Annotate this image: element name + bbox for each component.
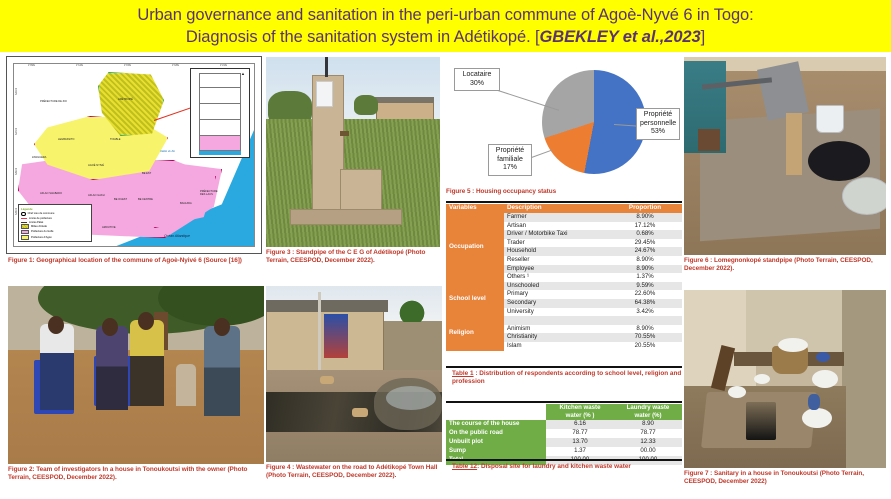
figure-7-caption: Figure 7 : Sanitary in a house in Tonouk… (684, 470, 884, 485)
legend-swatch-icon (21, 230, 29, 235)
table-cell-description: Others ¹ (504, 273, 608, 282)
pie-label-familiale-name-l1: Propriété (496, 147, 524, 154)
table-cell-proportion: 22.60% (608, 290, 682, 299)
table-1-group-occupation: Occupation (446, 213, 504, 282)
map-commune-label-amoutive: AMOUTIVE (102, 226, 116, 229)
table-2-col-laundry-l2: water (%) (634, 412, 661, 419)
map-prefecture-label-zio: PRÉFECTURE DE ZIO (40, 100, 67, 103)
photo-debris (320, 376, 334, 384)
table-2-col-kitchen-l1: Kitchen waste (560, 404, 601, 411)
photo-latrine-door-frame (842, 290, 886, 468)
table-cell-label: Sump (446, 447, 546, 456)
table-2-col-laundry-l1: Laundry waste (627, 404, 670, 411)
map-legend-item-label: Limite d'Etat (29, 221, 43, 224)
legend-swatch-icon (21, 224, 29, 229)
table-2-col-laundry: Laundry waste water (%) (614, 404, 682, 420)
poster-title-line-2: Diagnosis of the sanitation system in Ad… (186, 26, 705, 48)
table-row-spacer: Religion (446, 316, 682, 325)
map-y-tick: 6°06'N (14, 208, 17, 215)
table-cell-laundry: 78.77 (614, 429, 682, 438)
photo-person-seated (130, 320, 164, 406)
photo-litter (778, 338, 808, 352)
map-commune-label-legbassito: LEGBASSITO (58, 138, 74, 141)
table-1-top-rule (446, 201, 682, 203)
pie-label-locataire-name: Locataire (463, 71, 492, 78)
table-cell-description: Driver / Motorbike Taxi (504, 230, 608, 239)
map-y-tick: 6°12'N (14, 128, 17, 135)
photo-person-head (102, 318, 118, 336)
legend-swatch-icon (21, 222, 27, 223)
table-cell-description: Employee (504, 265, 608, 274)
map-legend-item: Préfecture du Golfe (21, 230, 89, 235)
map-x-tick: 1°18'E (172, 64, 179, 67)
table-1-respondent-distribution: Variables Description Proportion Occupat… (446, 204, 682, 351)
table-cell-description: Christianity (504, 333, 608, 342)
table-cell-proportion: 17.12% (608, 222, 682, 231)
poster-canvas: Urban governance and sanitation in the p… (0, 0, 891, 499)
map-commune-label-be-centre: BE CENTRE (138, 198, 153, 201)
table-cell-proportion: 24.67% (608, 247, 682, 256)
map-legend-item-label: Préfecture d'Agoé (31, 236, 52, 239)
table-cell-laundry: 00.00 (614, 447, 682, 456)
map-x-tick: 1°15'E (124, 64, 131, 67)
map-commune-label-be-ouest: BE OUEST (114, 198, 127, 201)
photo-grey-basin (842, 177, 886, 215)
figure-2-panel: Figure 2: Team of investigators In a hou… (8, 286, 266, 496)
photo-litter (802, 408, 832, 428)
map-legend-item: Chef Lieu de commune (21, 212, 89, 217)
figure-1-map-panel: Océan Atlantique ADÉTIKOPÉ LEGBASSITO TO… (6, 56, 262, 271)
table-cell-description: Trader (504, 239, 608, 248)
table-1-body: Occupation Farmer 8.90% Artisan 17.12% D… (446, 213, 682, 351)
photo-white-bucket (816, 105, 844, 133)
photo-litter-blue (816, 352, 830, 362)
pie-label-familiale-value: 17% (503, 164, 517, 171)
table-1-col-proportion: Proportion (608, 204, 682, 213)
table-row: Sump 1.37 00.00 (446, 447, 682, 456)
figure-7-panel: Figure 7 : Sanitary in a house in Tonouk… (684, 290, 886, 496)
table-cell-proportion: 29.45% (608, 239, 682, 248)
table-cell-kitchen: 1.37 (546, 447, 614, 456)
map-legend-item: Limite de préfecture (21, 217, 89, 220)
figure-4-caption: Figure 4 : Wastewater on the road to Adé… (266, 464, 440, 479)
map-commune-label-togble: TOGBLE (110, 138, 120, 141)
figure-5-caption: Figure 5 : Housing occupancy status (446, 188, 676, 196)
pie-label-personnelle-name-l2: personnelle (640, 120, 676, 127)
map-commune-label-be-est: BE EST (142, 172, 151, 175)
housing-occupancy-pie-chart (542, 70, 646, 174)
table-cell-description: Unschooled (504, 282, 608, 291)
inset-north-arrow-icon: ▲ (241, 71, 245, 76)
map-legend-item-label: Chef Lieu de commune (28, 212, 55, 215)
photo-standpipe-tap (340, 131, 349, 136)
table-2-caption-text: : Disposal site for laundry and kitchen … (477, 463, 631, 470)
pie-label-familiale-name-l2: familiale (497, 156, 523, 163)
table-cell-kitchen: 13.70 (546, 438, 614, 447)
table-cell-laundry: 8.90 (614, 420, 682, 429)
table-1-caption-text: : Distribution of respondents according … (452, 370, 681, 385)
map-x-tick: 1°12'E (76, 64, 83, 67)
photo-wastewater-sheen (386, 386, 436, 410)
photo-person-seated (40, 324, 74, 410)
inset-region-maritime (199, 135, 241, 151)
table-cell-proportion: 8.90% (608, 256, 682, 265)
table-1-col-description: Description (504, 204, 608, 213)
table-2-col-kitchen: Kitchen waste water (% ) (546, 404, 614, 420)
photo-litter (754, 374, 770, 384)
table-cell-label: The course of the house (446, 420, 546, 429)
figure-4-panel: Figure 4 : Wastewater on the road to Adé… (266, 286, 442, 496)
table-2-waste-water-disposal: Kitchen waste water (% ) Laundry waste w… (446, 404, 682, 465)
photo-palm-tree (390, 292, 434, 322)
map-ocean-label: Océan Atlantique (164, 234, 190, 238)
figure-3-caption: Figure 3 : Standpipe of the C E G of Adé… (266, 249, 438, 264)
photo-person-head (138, 312, 154, 330)
table-2-top-rule (446, 401, 682, 403)
pie-label-propriete-personnelle: Propriété personnelle 53% (636, 108, 680, 140)
map-valley-label-zio: Vallée du Zio (160, 150, 175, 153)
map-legend-item-label: Préfecture du Golfe (31, 230, 54, 233)
table-cell-proportion: 8.90% (608, 265, 682, 274)
map-x-tick: 1°21'E (220, 64, 227, 67)
map-inset-togo: ▲ (190, 68, 250, 158)
table-2-col-kitchen-l2: water (% ) (566, 412, 595, 419)
photo-standpipe-pipe (325, 57, 328, 77)
photo-building-roof (374, 97, 434, 103)
table-cell-description: Reseller (504, 256, 608, 265)
photo-black-basin (808, 141, 870, 181)
table-cell-description: Animism (504, 325, 608, 334)
table-cell-description: Primary (504, 290, 608, 299)
table-cell-proportion: 9.59% (608, 282, 682, 291)
photo-woman-legs (698, 129, 720, 151)
table-2-bottom-rule (446, 459, 682, 461)
table-1-header-row: Variables Description Proportion (446, 204, 682, 213)
table-2-header: Kitchen waste water (% ) Laundry waste w… (446, 404, 682, 420)
pie-label-locataire-value: 30% (470, 80, 484, 87)
poster-title-citation: GBEKLEY et al.,2023 (540, 28, 701, 46)
photo-person-seated (204, 326, 240, 416)
table-cell-proportion: 20.55% (608, 342, 682, 351)
table-cell-description: University (504, 308, 608, 317)
poster-title-line-1: Urban governance and sanitation in the p… (137, 4, 753, 26)
pie-label-propriete-familiale: Propriété familiale 17% (488, 144, 532, 176)
figure-6-photo (684, 57, 886, 255)
table-cell-description: Household (504, 247, 608, 256)
photo-building-mural (324, 314, 348, 358)
table-cell-description: Islam (504, 342, 608, 351)
table-cell-proportion: 64.38% (608, 299, 682, 308)
map-commune-label-baguida: BAGUIDA (180, 202, 192, 205)
table-cell-empty (504, 316, 608, 325)
table-cell-proportion: 1.37% (608, 273, 682, 282)
map-x-tick: 1°09'E (28, 64, 35, 67)
photo-person-head (214, 318, 230, 336)
photo-litter-blue (808, 394, 820, 410)
table-2-col-blank (446, 404, 546, 420)
table-2-header-row: Kitchen waste water (% ) Laundry waste w… (446, 404, 682, 420)
table-1-caption-label: Table 1 (452, 370, 474, 377)
table-cell-empty (608, 316, 682, 325)
figure-7-photo (684, 290, 886, 468)
figure-2-photo (8, 286, 264, 464)
table-row: School level Unschooled 9.59% (446, 282, 682, 291)
table-2-caption: Table 12: Disposal site for laundry and … (452, 463, 682, 471)
photo-child-seated (176, 364, 196, 406)
photo-person-seated (96, 326, 128, 410)
table-cell-proportion: 8.90% (608, 213, 682, 222)
table-cell-proportion: 0.68% (608, 230, 682, 239)
table-cell-label: Unbuilt plot (446, 438, 546, 447)
table-1-header: Variables Description Proportion (446, 204, 682, 213)
photo-standpipe-base (290, 209, 402, 225)
map-legend: Légende Chef Lieu de commune Limite de p… (18, 204, 92, 242)
figure-3-photo (266, 57, 440, 247)
map-commune-label-zanguera: ZANGUERA (32, 156, 46, 159)
map-legend-title: Légende (21, 207, 89, 211)
table-cell-description: Artisan (504, 222, 608, 231)
map-legend-item: Préfecture d'Agoé (21, 235, 89, 240)
figure-2-caption: Figure 2: Team of investigators In a hou… (8, 466, 264, 481)
legend-swatch-icon (21, 218, 27, 219)
figure-1-caption: Figure 1: Geographical location of the c… (8, 257, 258, 265)
map-commune-label-aflao-sagbado: AFLAO SAGBADO (40, 192, 62, 195)
table-1-col-variables: Variables (446, 204, 504, 213)
table-1-bottom-rule (446, 366, 682, 368)
map-y-tick: 6°15'N (14, 88, 17, 95)
table-cell-proportion: 3.42% (608, 308, 682, 317)
map-commune-label-adetikope: ADÉTIKOPÉ (118, 98, 133, 101)
photo-standpipe-basin (340, 169, 382, 213)
map-prefecture-label-lacs: PRÉFECTUREDES LACS (200, 190, 218, 196)
pie-label-personnelle-name-l1: Propriété (644, 111, 672, 118)
table-1-group-religion: Religion (446, 316, 504, 350)
table-cell-proportion: 70.55% (608, 333, 682, 342)
figure-5-pie-panel: Locataire 30% Propriété familiale 17% Pr… (446, 60, 682, 195)
table-cell-label: On the public road (446, 429, 546, 438)
table-2-caption-label: Table 12 (452, 463, 477, 470)
photo-handpump-column (786, 113, 802, 175)
legend-swatch-icon (21, 235, 29, 240)
poster-title-line-2-post: ] (701, 28, 705, 46)
figure-6-caption: Figure 6 : Lomegnonkopé standpipe (Photo… (684, 257, 884, 272)
figure-6-panel: Figure 6 : Lomegnonkopé standpipe (Photo… (684, 57, 886, 272)
table-1-group-school-level: School level (446, 282, 504, 316)
photo-litter (728, 386, 746, 398)
inset-ocean (199, 151, 241, 155)
poster-title-banner: Urban governance and sanitation in the p… (0, 0, 891, 52)
map-legend-item: Milieu d'étude (21, 224, 89, 229)
photo-squat-hole (746, 402, 776, 440)
map-commune-label-aflao-gakli: AFLAO GAKLI (88, 194, 105, 197)
table-cell-kitchen: 78.77 (546, 429, 614, 438)
map-legend-item-label: Limite de préfecture (29, 217, 52, 220)
table-row: Unbuilt plot 13.70 12.33 (446, 438, 682, 447)
pie-label-locataire: Locataire 30% (454, 68, 500, 91)
photo-litter (812, 370, 838, 388)
map-y-tick: 6°09'N (14, 168, 17, 175)
table-row: The course of the house 6.16 8.90 (446, 420, 682, 429)
table-cell-kitchen: 6.16 (546, 420, 614, 429)
table-row: On the public road 78.77 78.77 (446, 429, 682, 438)
pie-label-personnelle-value: 53% (651, 128, 665, 135)
map-inner: Océan Atlantique ADÉTIKOPÉ LEGBASSITO TO… (13, 63, 255, 247)
table-cell-proportion: 8.90% (608, 325, 682, 334)
photo-debris (352, 408, 368, 417)
table-cell-description: Farmer (504, 213, 608, 222)
photo-building-roof (266, 300, 388, 312)
table-1-caption: Table 1 : Distribution of respondents ac… (452, 370, 684, 386)
table-cell-description: Secondary (504, 299, 608, 308)
photo-tree (354, 95, 378, 115)
figure-4-photo (266, 286, 442, 462)
table-row: Occupation Farmer 8.90% (446, 213, 682, 222)
legend-swatch-icon (21, 212, 26, 217)
photo-person-head (48, 316, 64, 334)
map-frame: Océan Atlantique ADÉTIKOPÉ LEGBASSITO TO… (6, 56, 262, 254)
map-legend-item-label: Milieu d'étude (31, 225, 47, 228)
map-commune-label-agoe-nyive: AGOÉ NYIVÉ (88, 164, 104, 167)
table-cell-laundry: 12.33 (614, 438, 682, 447)
figure-3-panel: Figure 3 : Standpipe of the C E G of Adé… (266, 57, 440, 272)
photo-standpipe-notice-sign (316, 81, 333, 107)
photo-utility-pole (318, 292, 321, 372)
map-legend-item: Limite d'Etat (21, 221, 89, 224)
poster-title-line-2-pre: Diagnosis of the sanitation system in Ad… (186, 28, 540, 46)
